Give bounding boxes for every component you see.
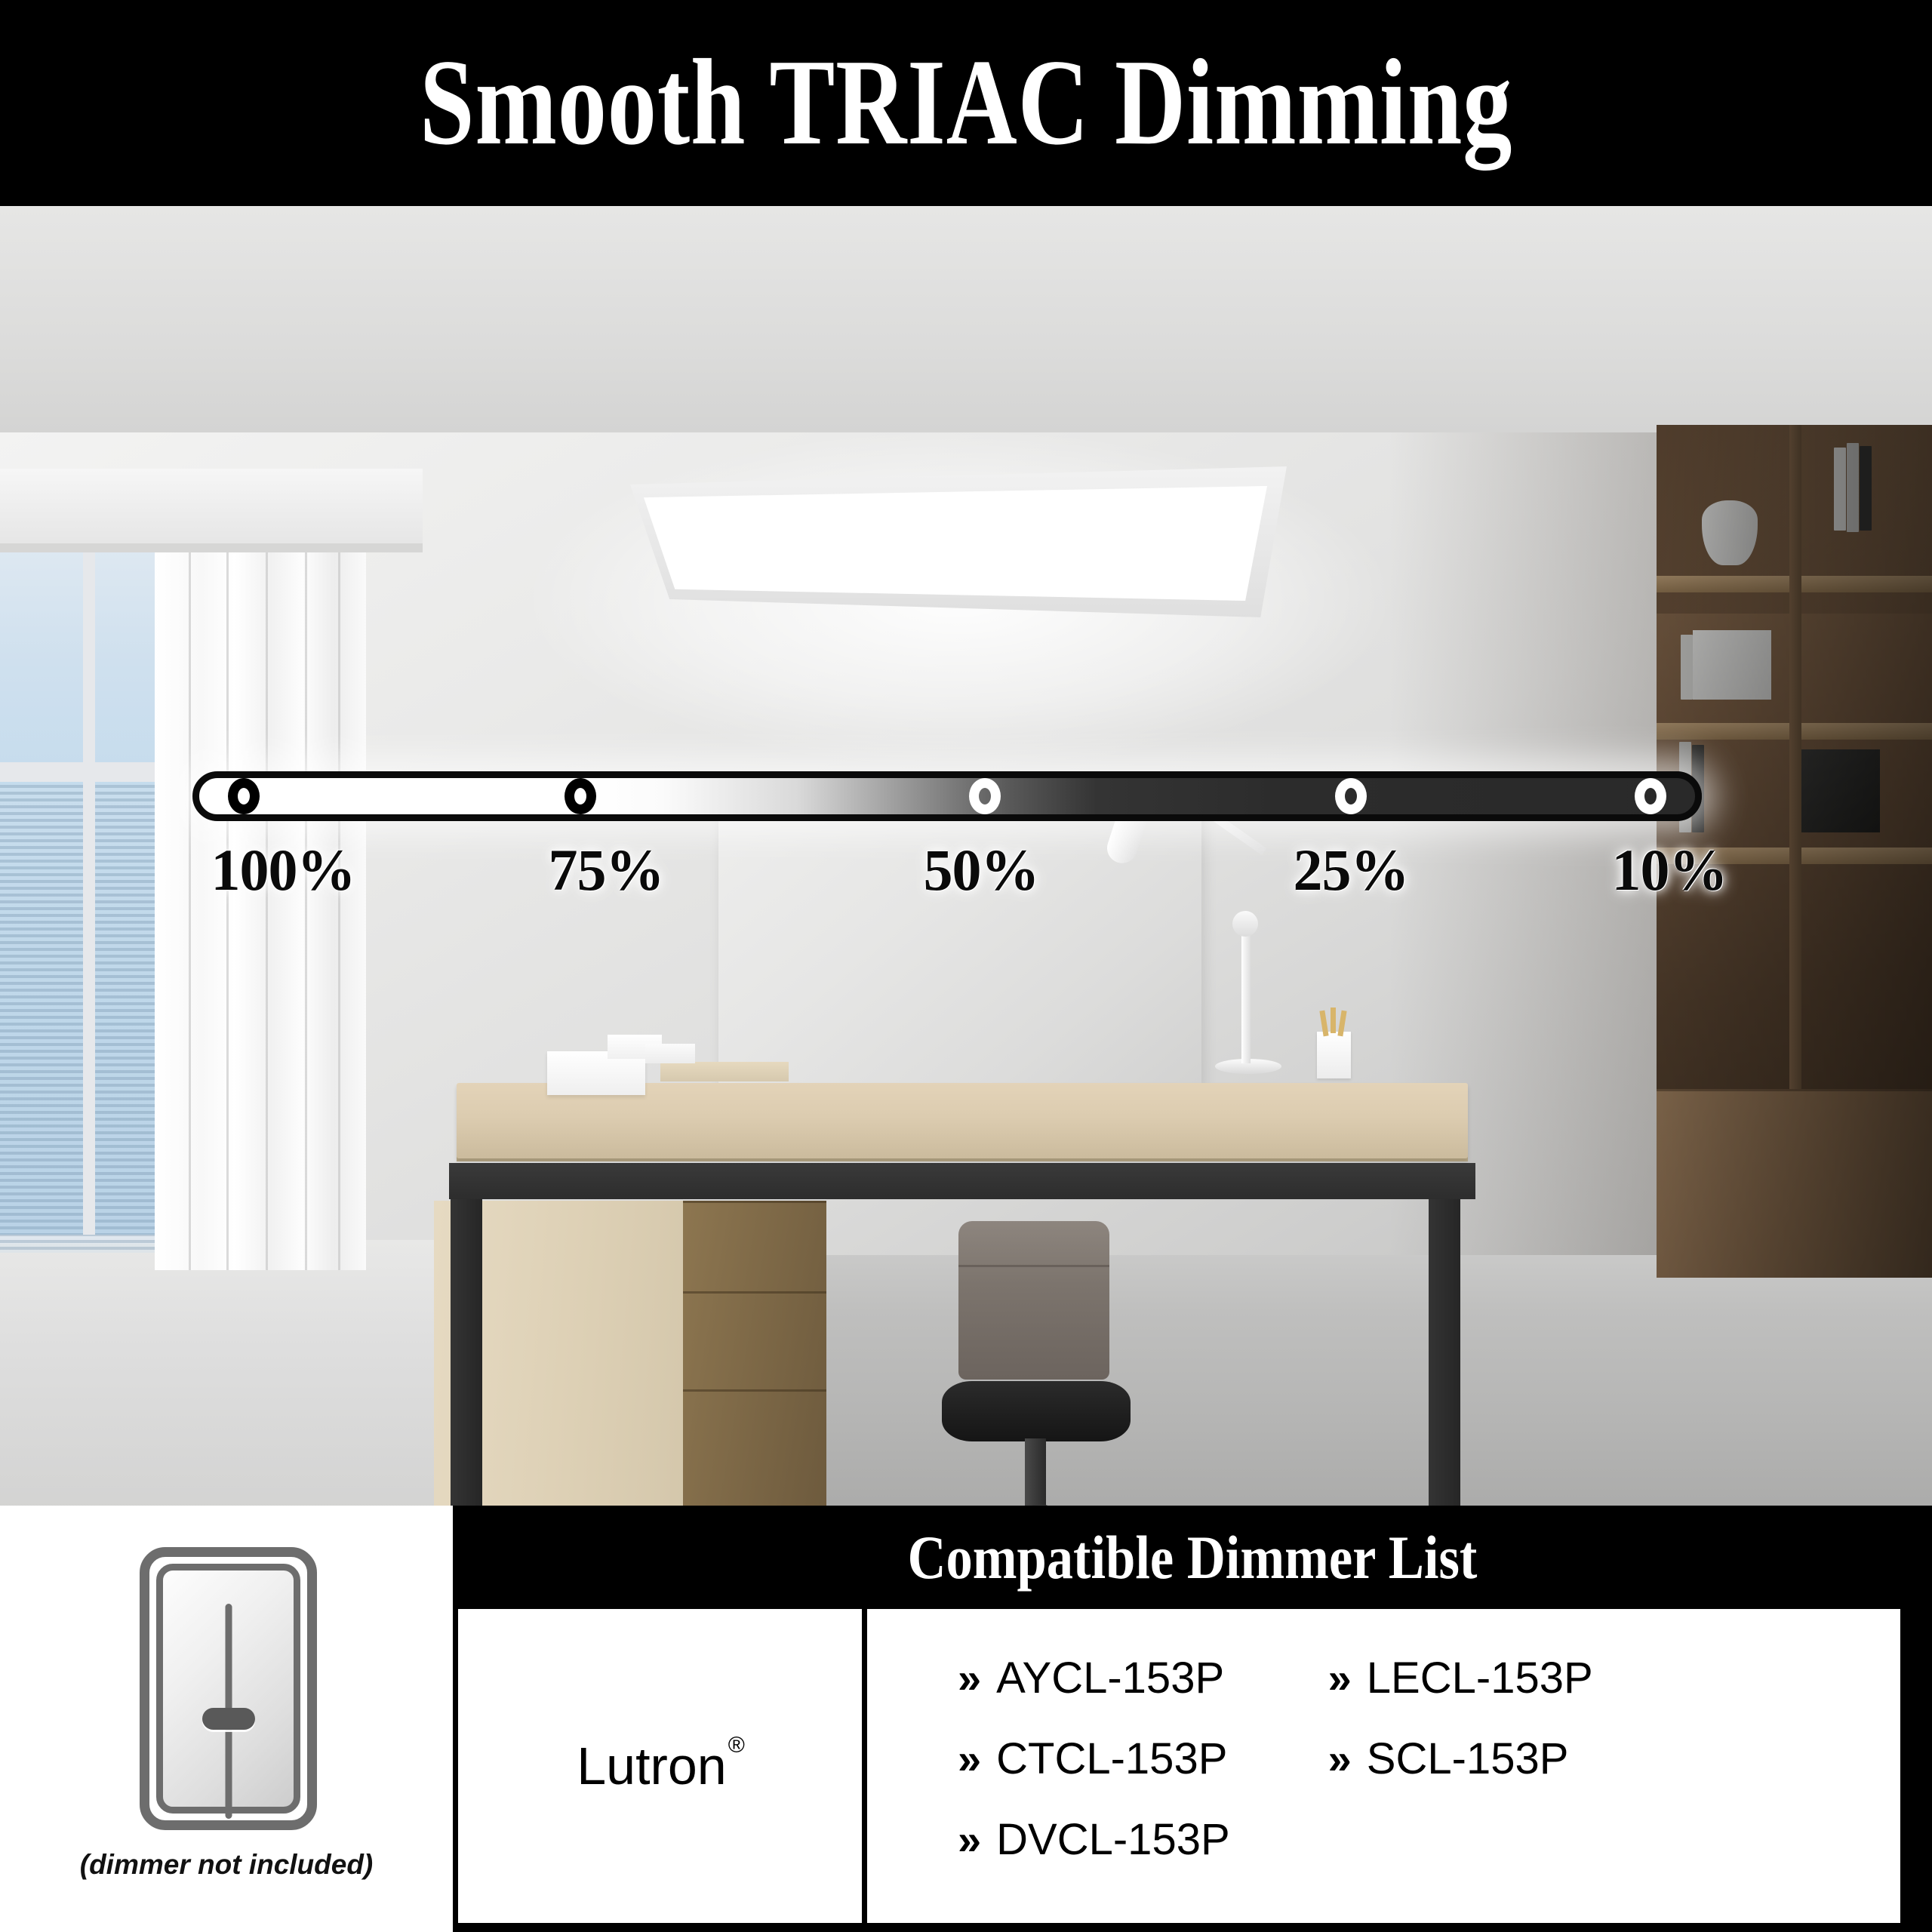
drawer-line [683,1389,826,1392]
compatible-dimmer-table: Lutron® » AYCL-153P » CTCL-153P » DVCL-1 [453,1604,1906,1928]
booklet [660,1062,789,1081]
models-cell: » AYCL-153P » CTCL-153P » DVCL-153P » [867,1609,1900,1923]
drawer-line [683,1201,826,1203]
slider-knob-100[interactable] [228,778,260,814]
switch-plate [156,1564,300,1814]
model-label: LECL-153P [1367,1653,1593,1703]
slider-label-10: 10% [1612,836,1727,904]
footer-section: (dimmer not included) Compatible Dimmer … [0,1506,1932,1932]
header-banner: Smooth TRIAC Dimming [0,0,1932,206]
desk-apron [449,1163,1475,1199]
slider-label-50: 50% [924,836,1039,904]
slider-track[interactable] [192,771,1702,821]
model-item: » SCL-153P [1328,1734,1593,1784]
slider-knob-50[interactable] [969,778,1001,814]
page-title: Smooth TRIAC Dimming [420,42,1512,165]
table-column-divider [862,1609,867,1923]
curtain-fold [189,515,191,1270]
floor-near-window [0,1240,468,1506]
window-mullion-vertical [83,536,95,1235]
chevron-right-icon: » [1328,1738,1347,1780]
led-ceiling-panel [630,466,1287,617]
dimming-level-slider[interactable] [192,771,1702,821]
soffit [0,469,423,548]
chevron-right-icon: » [958,1738,977,1780]
credenza-drawers [683,1201,826,1506]
slider-knob-75[interactable] [565,778,596,814]
ceiling [0,206,1932,455]
slider-label-25: 25% [1294,836,1409,904]
slider-knob-10[interactable] [1635,778,1666,814]
dimmer-list-title: Compatible Dimmer List [556,1512,1829,1604]
chevron-right-icon: » [1328,1657,1347,1700]
soffit-edge [0,543,423,552]
desk-leg-right [1429,1199,1460,1506]
brand-label: Lutron [577,1737,726,1795]
model-label: AYCL-153P [996,1653,1224,1703]
model-label: DVCL-153P [996,1814,1229,1865]
switch-slider-handle [202,1708,255,1730]
office-chair [912,1221,1161,1506]
model-item: » DVCL-153P [958,1814,1230,1865]
product-infographic: Smooth TRIAC Dimming [0,0,1932,1932]
models-column-left: » AYCL-153P » CTCL-153P » DVCL-153P [958,1653,1230,1923]
model-label: SCL-153P [1367,1734,1569,1784]
models-column-right: » LECL-153P » SCL-153P [1328,1653,1593,1923]
drawer-line [683,1291,826,1294]
brand-name: Lutron® [577,1736,743,1796]
chair-seat [942,1381,1131,1441]
dimmer-disclaimer: (dimmer not included) [0,1849,453,1881]
pencil [1331,1008,1336,1033]
slider-knob-25[interactable] [1335,778,1367,814]
led-panel-face [644,486,1267,601]
registered-trademark-icon: ® [728,1733,745,1758]
chair-seam [958,1265,1109,1267]
pencil-cup [1317,1032,1351,1078]
model-item: » AYCL-153P [958,1653,1230,1703]
paper-stack [645,1044,695,1063]
dimmer-switch-icon [140,1547,317,1830]
chevron-right-icon: » [958,1657,977,1700]
chair-gas-cylinder [1025,1438,1046,1506]
chair-backrest [958,1221,1109,1380]
slider-label-75: 75% [549,836,664,904]
dimmer-switch-panel: (dimmer not included) [0,1506,453,1932]
desk-lamp-stem [1241,923,1251,1063]
brand-cell: Lutron® [458,1609,862,1923]
chevron-right-icon: » [958,1819,977,1861]
desk-lamp-joint [1232,911,1258,937]
window [0,527,181,1244]
model-label: CTCL-153P [996,1734,1227,1784]
model-item: » CTCL-153P [958,1734,1230,1784]
model-item: » LECL-153P [1328,1653,1593,1703]
desk-leg-left [451,1199,482,1506]
slider-label-100: 100% [211,836,355,904]
